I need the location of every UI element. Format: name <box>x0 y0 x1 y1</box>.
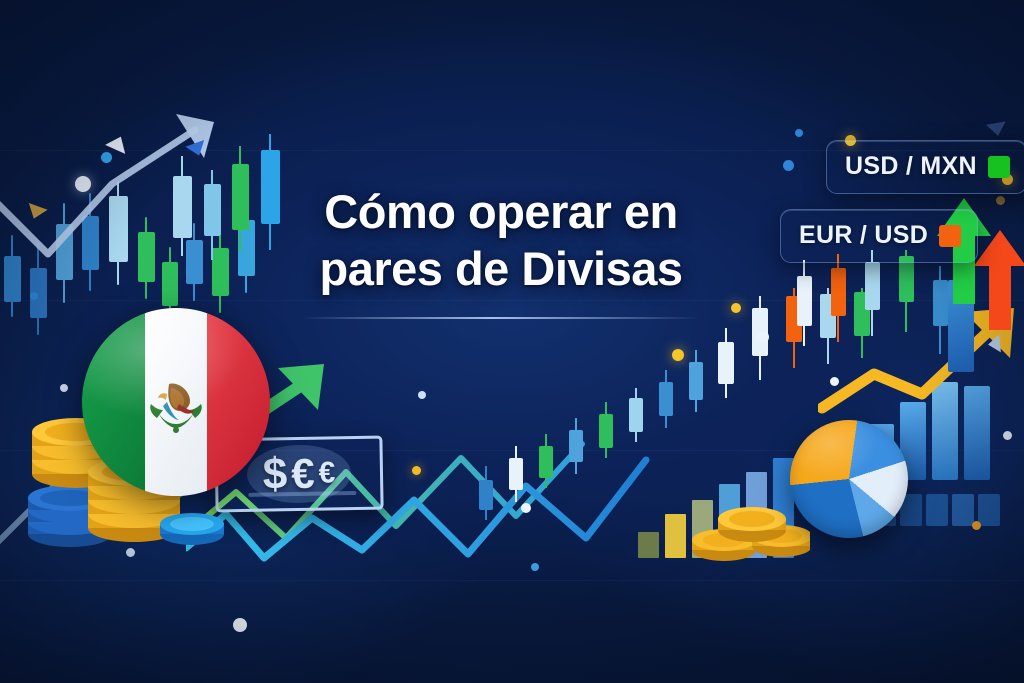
white-trend-arrow <box>0 108 240 278</box>
forex-hero-banner: $ € € <box>0 0 1024 683</box>
decor-dot <box>412 466 421 475</box>
decor-dot <box>60 384 68 392</box>
status-chip-green <box>988 156 1010 178</box>
page-title: Cómo operar en pares de Divisas <box>266 186 736 319</box>
decor-dot <box>757 331 769 343</box>
decor-dot <box>972 521 981 530</box>
currency-pair-badge-usd-mxn[interactable]: USD / MXN <box>826 140 1024 194</box>
pie-gloss <box>790 420 908 538</box>
mexico-flag-badge <box>82 308 270 496</box>
decor-triangle <box>987 334 1001 353</box>
pair-label: USD / MXN <box>845 152 977 181</box>
decor-dot <box>30 292 38 300</box>
decor-dot <box>672 349 684 361</box>
euro-symbol: € <box>291 450 315 498</box>
decor-dot <box>101 152 112 163</box>
title-underline <box>301 317 701 319</box>
decor-dot <box>795 129 803 137</box>
decor-dot <box>521 503 531 513</box>
cyan-coin <box>158 506 226 548</box>
title-line-1: Cómo operar en <box>266 186 736 239</box>
title-line-2: pares de Divisas <box>266 243 736 296</box>
gold-coin-pile-center <box>690 502 810 564</box>
currency-pair-badge-eur-usd[interactable]: EUR / USD <box>780 209 978 263</box>
decor-triangle <box>986 121 1008 137</box>
decor-dot <box>1003 431 1012 440</box>
pie-chart <box>790 420 908 538</box>
flag-gloss <box>82 308 270 496</box>
decor-dot <box>531 563 539 571</box>
decor-dot <box>126 548 135 557</box>
decor-dot <box>830 377 839 386</box>
decor-dot <box>996 196 1005 205</box>
orange-up-arrow <box>972 228 1024 332</box>
decor-dot <box>418 391 426 399</box>
pair-label: EUR / USD <box>799 221 928 250</box>
status-chip-orange <box>939 225 961 247</box>
decor-dot <box>783 160 794 171</box>
euro-symbol-small: € <box>318 456 335 490</box>
decor-dot <box>75 176 91 192</box>
decor-dot <box>233 618 247 632</box>
